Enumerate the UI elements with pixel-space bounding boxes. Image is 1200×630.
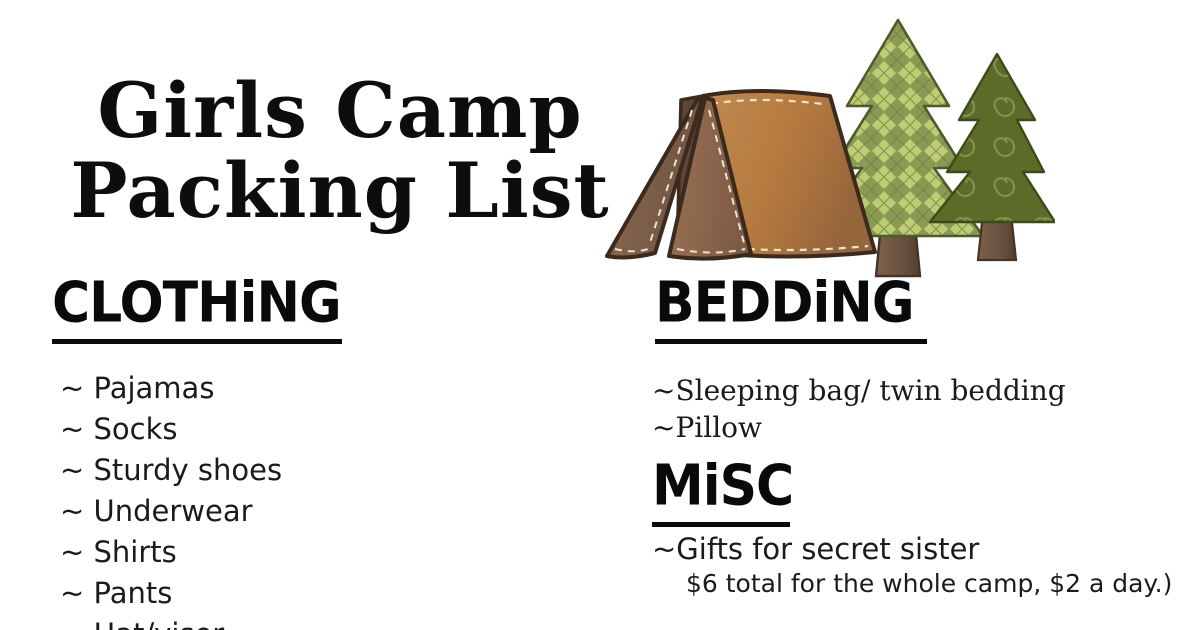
bedding-heading-text: BEDDiNG <box>655 275 927 331</box>
bedding-list: ~Sleeping bag/ twin bedding ~Pillow <box>652 372 1172 446</box>
packing-list-poster: Girls Camp Packing List <box>0 0 1200 630</box>
list-item: ~ Shirts <box>60 532 480 573</box>
section-heading-bedding: BEDDiNG <box>655 279 927 344</box>
title-line-2: Packing List <box>70 154 610 228</box>
tree-foliage-small <box>930 54 1055 222</box>
misc-heading-text: MiSC <box>652 458 793 514</box>
list-item: ~Sleeping bag/ twin bedding <box>652 372 1172 409</box>
title-line-1: Girls Camp <box>70 74 610 148</box>
list-item: ~ Pants <box>60 573 480 614</box>
tent <box>607 91 875 259</box>
clothing-list: ~ Pajamas ~ Socks ~ Sturdy shoes ~ Under… <box>60 368 480 630</box>
section-heading-misc: MiSC <box>652 462 793 527</box>
clothing-heading-text: CLOTHiNG <box>52 275 342 331</box>
misc-heading-underline <box>652 522 790 527</box>
list-item: ~ Sturdy shoes <box>60 450 480 491</box>
clothing-heading-underline <box>52 339 342 344</box>
list-item: ~Gifts for secret sister <box>652 531 1172 567</box>
section-heading-clothing: CLOTHiNG <box>52 279 342 344</box>
camping-illustration <box>585 8 1055 293</box>
list-item: ~Pillow <box>652 409 1172 446</box>
page-title: Girls Camp Packing List <box>70 74 610 229</box>
bedding-heading-underline <box>655 339 927 344</box>
list-item: ~ Hat/visor <box>60 614 480 630</box>
list-item: ~ Socks <box>60 409 480 450</box>
list-item: ~ Pajamas <box>60 368 480 409</box>
misc-sub-note: $6 total for the whole camp, $2 a day.) <box>652 567 1172 601</box>
misc-list: ~Gifts for secret sister $6 total for th… <box>652 531 1172 601</box>
list-item: ~ Underwear <box>60 491 480 532</box>
